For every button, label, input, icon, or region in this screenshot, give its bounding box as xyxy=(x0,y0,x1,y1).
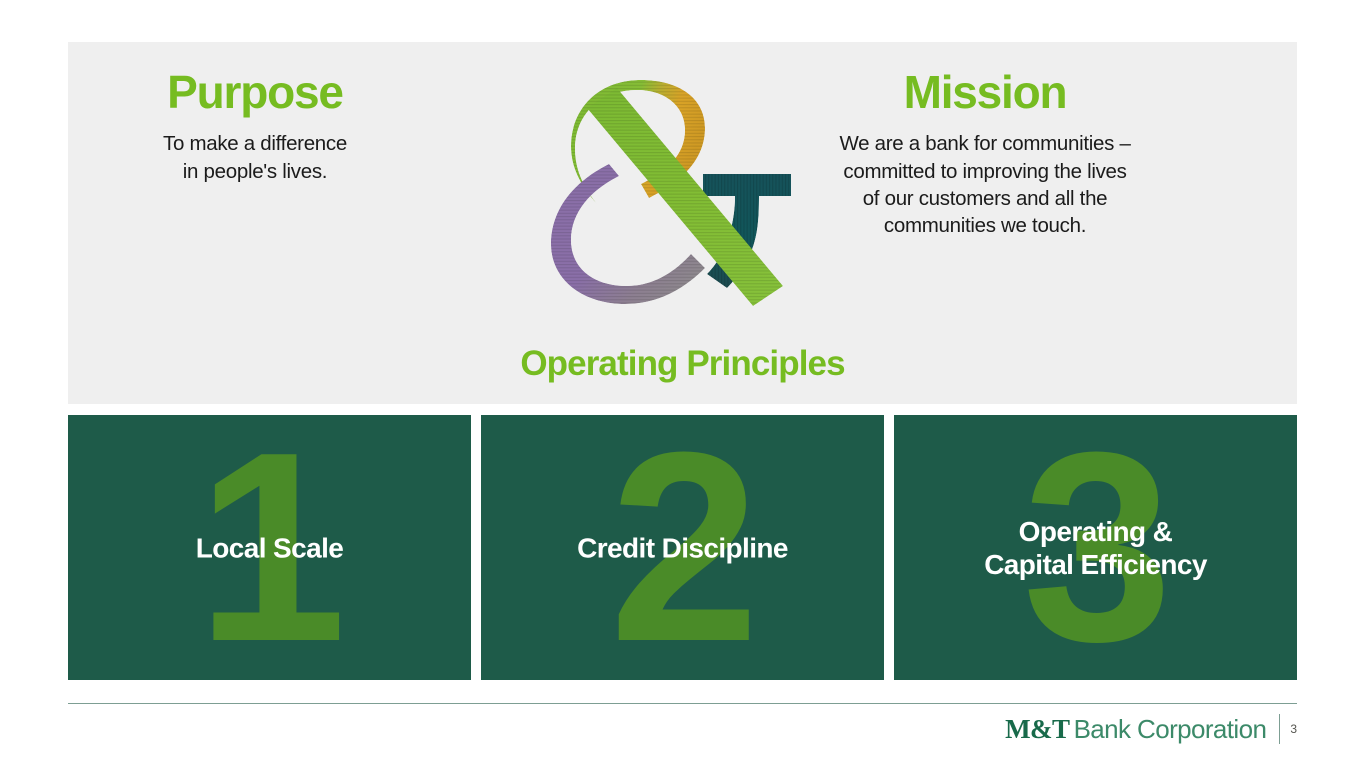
principle-label-2-line-1: Credit Discipline xyxy=(577,532,788,563)
principle-label-3: Operating & Capital Efficiency xyxy=(894,514,1297,580)
purpose-title: Purpose xyxy=(90,68,420,116)
footer-divider xyxy=(68,703,1297,704)
principle-label-3-line-1: Operating & xyxy=(1019,515,1173,546)
mission-body-line-1: We are a bank for communities – xyxy=(839,132,1130,155)
slide-canvas: Purpose To make a difference in people's… xyxy=(0,0,1365,768)
purpose-body-line-2: in people's lives. xyxy=(183,160,327,183)
mission-block: Mission We are a bank for communities – … xyxy=(815,68,1155,239)
mission-body-line-4: communities we touch. xyxy=(884,214,1086,237)
principle-card-2[interactable]: 2 Credit Discipline xyxy=(481,415,884,680)
purpose-body-line-1: To make a difference xyxy=(163,132,347,155)
mission-body-line-3: of our customers and all the xyxy=(863,187,1108,210)
mission-body-line-2: committed to improving the lives xyxy=(843,160,1126,183)
footer-brand: M&T Bank Corporation 3 xyxy=(1005,712,1297,746)
purpose-block: Purpose To make a difference in people's… xyxy=(90,68,420,185)
page-number: 3 xyxy=(1290,722,1297,736)
brand-logotype-mark: M&T xyxy=(1005,714,1069,745)
mission-title: Mission xyxy=(815,68,1155,116)
footer-brand-divider xyxy=(1279,714,1280,744)
ampersand-logo xyxy=(545,72,795,312)
principle-card-3[interactable]: 3 Operating & Capital Efficiency xyxy=(894,415,1297,680)
operating-principles-heading: Operating Principles xyxy=(68,344,1297,384)
principle-label-1: Local Scale xyxy=(68,531,471,564)
mission-body: We are a bank for communities – committe… xyxy=(815,130,1155,239)
principles-card-row: 1 Local Scale 2 Credit Discipline 3 Oper… xyxy=(68,415,1297,680)
principle-label-1-line-1: Local Scale xyxy=(196,532,343,563)
brand-logotype-name: Bank Corporation xyxy=(1074,714,1267,745)
purpose-body: To make a difference in people's lives. xyxy=(90,130,420,185)
principle-card-1[interactable]: 1 Local Scale xyxy=(68,415,471,680)
principle-label-3-line-2: Capital Efficiency xyxy=(906,548,1285,581)
principle-label-2: Credit Discipline xyxy=(481,531,884,564)
